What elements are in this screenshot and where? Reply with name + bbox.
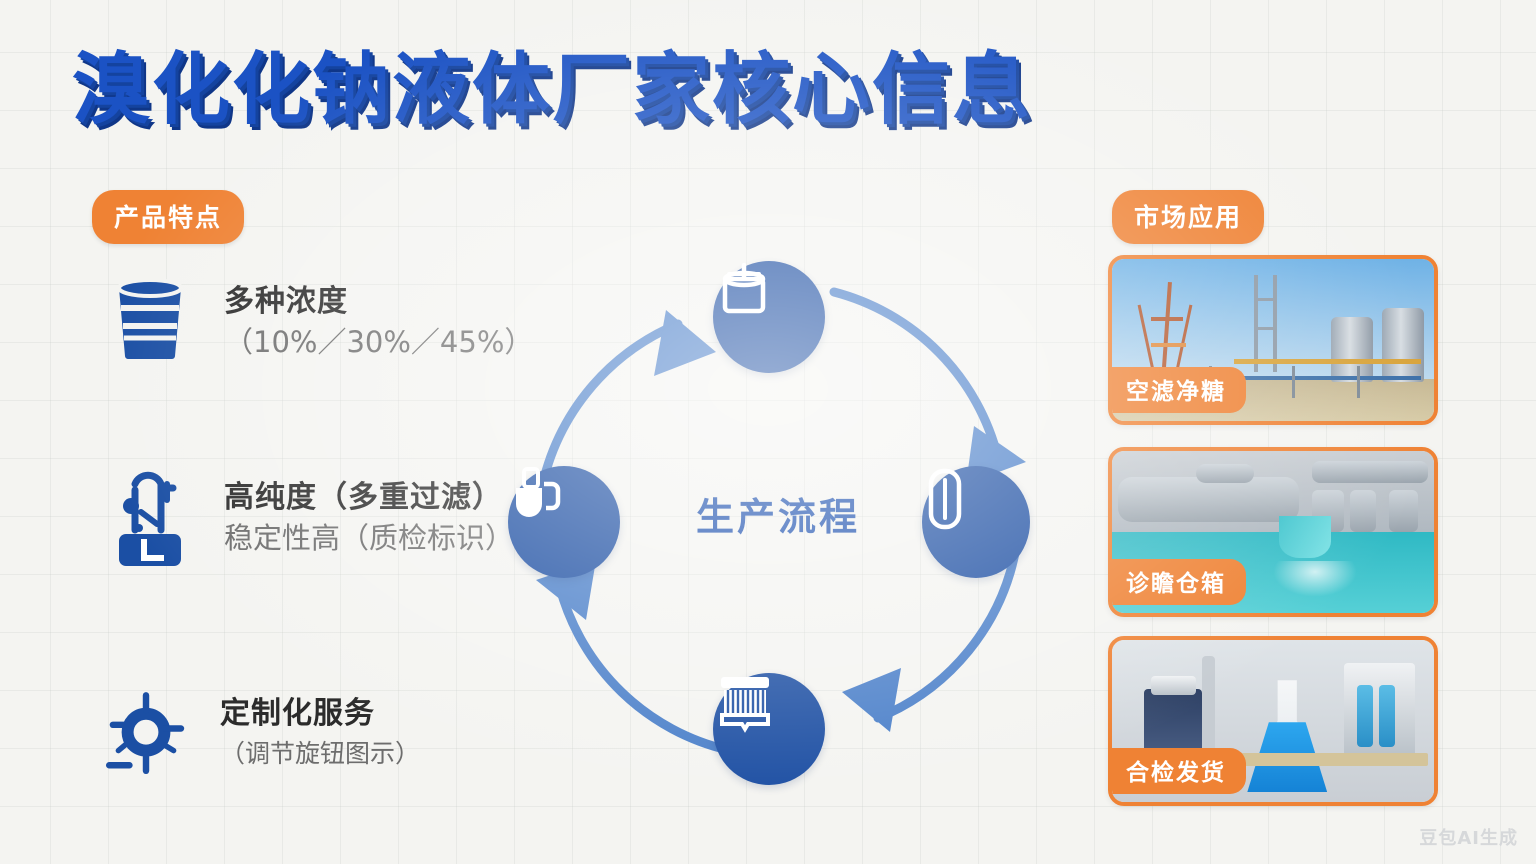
cycle-node-filter-cartridge xyxy=(713,673,825,785)
cycle-center-label: 生产流程 xyxy=(653,486,903,541)
feature-title: 多种浓度 xyxy=(224,282,533,322)
cycle-node-jug xyxy=(508,466,620,578)
cycle-node-mixing-tank xyxy=(713,261,825,373)
infographic-canvas: 溴化化钠液体厂家核心信息 产品特点 多种浓度 （10%／30%／45%） xyxy=(0,0,1536,864)
section-badge-product-features: 产品特点 xyxy=(92,190,244,244)
market-card[interactable]: 合检发货 xyxy=(1108,636,1438,806)
filter-cartridge-icon xyxy=(713,673,777,733)
feature-title: 高纯度（多重过滤） xyxy=(224,478,514,518)
feature-item-concentration: 多种浓度 （10%／30%／45%） xyxy=(104,272,533,372)
cycle-node-capsule xyxy=(922,466,1030,578)
section-badge-market-application: 市场应用 xyxy=(1112,190,1264,244)
vertical-capsule-icon xyxy=(922,466,968,532)
page-title: 溴化化钠液体厂家核心信息 xyxy=(72,46,1032,134)
market-card[interactable]: 空滤净糖 xyxy=(1108,255,1438,425)
filter-flask-icon xyxy=(104,468,196,568)
jug-container-icon xyxy=(508,466,570,526)
feature-subtitle: 稳定性高（质检标识） xyxy=(224,518,514,558)
feature-subtitle: （10%／30%／45%） xyxy=(224,322,533,362)
feature-subtitle: （调节旋钮图示） xyxy=(220,734,420,774)
ai-watermark: 豆包AI生成 xyxy=(1419,824,1518,850)
market-card-caption: 合检发货 xyxy=(1108,748,1246,794)
production-cycle-diagram: 生产流程 xyxy=(498,248,1058,793)
bucket-icon xyxy=(104,272,196,372)
market-card-caption: 诊瞻仓箱 xyxy=(1108,559,1246,605)
feature-item-customization: 定制化服务 （调节旋钮图示） xyxy=(100,684,420,784)
market-card-caption: 空滤净糖 xyxy=(1108,367,1246,413)
feature-item-purity: 高纯度（多重过滤） 稳定性高（质检标识） xyxy=(104,468,514,568)
mixing-tank-icon xyxy=(713,261,775,323)
feature-title: 定制化服务 xyxy=(220,694,420,734)
market-card[interactable]: 诊瞻仓箱 xyxy=(1108,447,1438,617)
adjust-knob-icon xyxy=(100,684,192,784)
